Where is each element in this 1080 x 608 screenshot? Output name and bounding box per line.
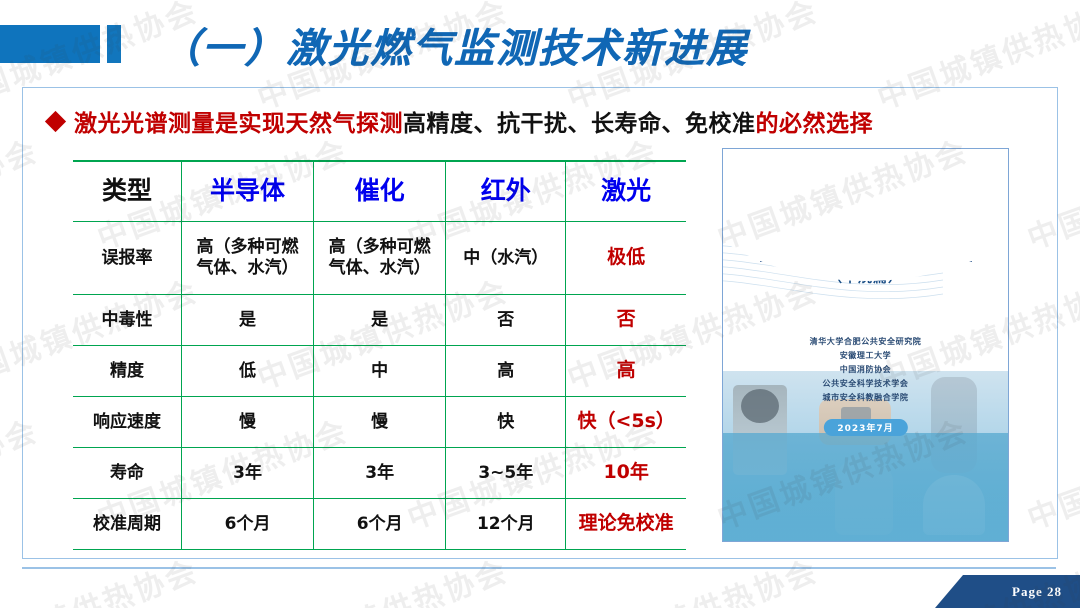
cover-white-arc xyxy=(723,149,1008,281)
cell-infrared: 中（水汽） xyxy=(446,222,566,295)
row-label: 精度 xyxy=(73,346,182,397)
statement-part-2: 高精度、抗干扰、长寿命、免校准 xyxy=(403,104,756,138)
header-accent-block xyxy=(0,25,100,63)
table-row: 精度 低 中 高 高 xyxy=(73,346,686,397)
cell-laser: 否 xyxy=(566,295,686,346)
row-label: 寿命 xyxy=(73,448,182,499)
cell-catalytic: 6个月 xyxy=(314,499,446,550)
table-header-row: 类型 半导体 催化 红外 激光 xyxy=(73,161,686,222)
page-number-tab: Page 28 xyxy=(935,575,1080,608)
table-row: 中毒性 是 是 否 否 xyxy=(73,295,686,346)
th-infrared: 红外 xyxy=(446,161,566,222)
statement-part-3: 的必然选择 xyxy=(756,104,874,138)
table-row: 误报率 高（多种可燃 气体、水汽） 高（多种可燃 气体、水汽） 中（水汽） 极低 xyxy=(73,222,686,295)
sensor-comparison-table: 类型 半导体 催化 红外 激光 误报率 高（多种可燃 气体、水汽） 高（多种可燃… xyxy=(73,160,686,550)
cell-infrared: 3~5年 xyxy=(446,448,566,499)
row-label: 中毒性 xyxy=(73,295,182,346)
cell-laser: 极低 xyxy=(566,222,686,295)
cell-infrared: 快 xyxy=(446,397,566,448)
cell-semiconductor: 高（多种可燃 气体、水汽） xyxy=(182,222,314,295)
header-accent-tick xyxy=(107,25,121,63)
cell-catalytic: 是 xyxy=(314,295,446,346)
th-laser: 激光 xyxy=(566,161,686,222)
cell-laser: 高 xyxy=(566,346,686,397)
cell-laser: 快（<5s） xyxy=(566,397,686,448)
cover-date-badge: 2023年7月 xyxy=(823,419,907,436)
table-row: 校准周期 6个月 6个月 12个月 理论免校准 xyxy=(73,499,686,550)
whitepaper-cover-image: 可燃气体探测器 环境适应性选型白皮书 （甲烷篇） 清华大学合肥公共安全研究院 安… xyxy=(722,148,1009,542)
row-label: 响应速度 xyxy=(73,397,182,448)
slide-canvas: （一）激光燃气监测技术新进展 激光光谱测量是实现天然气探测 高精度、抗干扰、长寿… xyxy=(0,0,1080,608)
cover-blue-band xyxy=(723,433,1008,541)
cell-infrared: 否 xyxy=(446,295,566,346)
cell-catalytic: 高（多种可燃 气体、水汽） xyxy=(314,222,446,295)
cell-semiconductor: 慢 xyxy=(182,397,314,448)
cell-catalytic: 慢 xyxy=(314,397,446,448)
diamond-marker-icon xyxy=(45,110,66,131)
cell-catalytic: 3年 xyxy=(314,448,446,499)
cell-catalytic: 中 xyxy=(314,346,446,397)
statement-part-1: 激光光谱测量是实现天然气探测 xyxy=(74,104,403,138)
cell-semiconductor: 3年 xyxy=(182,448,314,499)
th-semiconductor: 半导体 xyxy=(182,161,314,222)
th-catalytic: 催化 xyxy=(314,161,446,222)
row-label: 误报率 xyxy=(73,222,182,295)
cell-semiconductor: 低 xyxy=(182,346,314,397)
page-number-label: Page 28 xyxy=(1012,584,1062,600)
footer-divider xyxy=(22,567,1056,569)
row-label: 校准周期 xyxy=(73,499,182,550)
page-title: （一）激光燃气监测技术新进展 xyxy=(160,16,748,74)
key-statement: 激光光谱测量是实现天然气探测 高精度、抗干扰、长寿命、免校准 的必然选择 xyxy=(48,104,873,138)
cell-laser: 理论免校准 xyxy=(566,499,686,550)
table-row: 寿命 3年 3年 3~5年 10年 xyxy=(73,448,686,499)
cell-infrared: 高 xyxy=(446,346,566,397)
cell-semiconductor: 是 xyxy=(182,295,314,346)
th-type: 类型 xyxy=(73,161,182,222)
cover-organizations: 清华大学合肥公共安全研究院 安徽理工大学 中国消防协会 公共安全科学技术学会 城… xyxy=(723,335,1008,405)
cell-laser: 10年 xyxy=(566,448,686,499)
cell-semiconductor: 6个月 xyxy=(182,499,314,550)
cover-inner: 可燃气体探测器 环境适应性选型白皮书 （甲烷篇） 清华大学合肥公共安全研究院 安… xyxy=(723,149,1008,541)
table-row: 响应速度 慢 慢 快 快（<5s） xyxy=(73,397,686,448)
cell-infrared: 12个月 xyxy=(446,499,566,550)
